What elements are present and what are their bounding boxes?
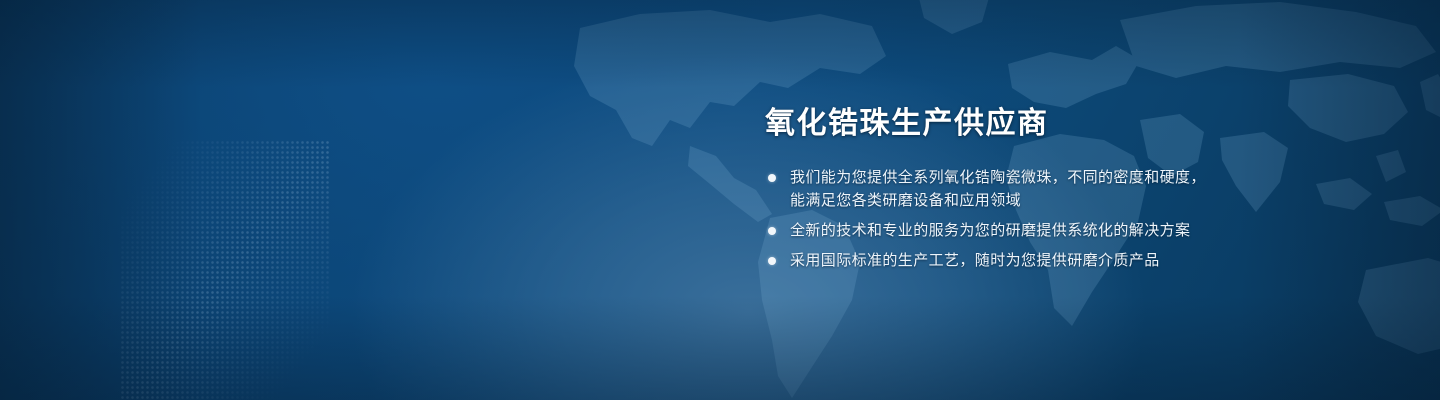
dot-bullet-icon [768, 257, 776, 265]
list-item-line: 我们能为您提供全系列氧化锆陶瓷微珠，不同的密度和硬度， [790, 166, 1322, 189]
dot-bullet-icon [768, 174, 776, 182]
list-item: 全新的技术和专业的服务为您的研磨提供系统化的解决方案 [762, 219, 1322, 242]
feature-list: 我们能为您提供全系列氧化锆陶瓷微珠，不同的密度和硬度， 能满足您各类研磨设备和应… [762, 166, 1322, 272]
list-item-line: 全新的技术和专业的服务为您的研磨提供系统化的解决方案 [790, 219, 1322, 242]
list-item: 采用国际标准的生产工艺，随时为您提供研磨介质产品 [762, 249, 1322, 272]
hero-banner: 氧化锆珠生产供应商 我们能为您提供全系列氧化锆陶瓷微珠，不同的密度和硬度， 能满… [0, 0, 1440, 400]
banner-copy: 氧化锆珠生产供应商 我们能为您提供全系列氧化锆陶瓷微珠，不同的密度和硬度， 能满… [762, 104, 1322, 272]
dot-bullet-icon [768, 227, 776, 235]
list-item: 我们能为您提供全系列氧化锆陶瓷微珠，不同的密度和硬度， 能满足您各类研磨设备和应… [762, 166, 1322, 212]
list-item-line: 采用国际标准的生产工艺，随时为您提供研磨介质产品 [790, 249, 1322, 272]
list-item-line: 能满足您各类研磨设备和应用领域 [790, 189, 1322, 212]
page-title: 氧化锆珠生产供应商 [765, 104, 1322, 144]
